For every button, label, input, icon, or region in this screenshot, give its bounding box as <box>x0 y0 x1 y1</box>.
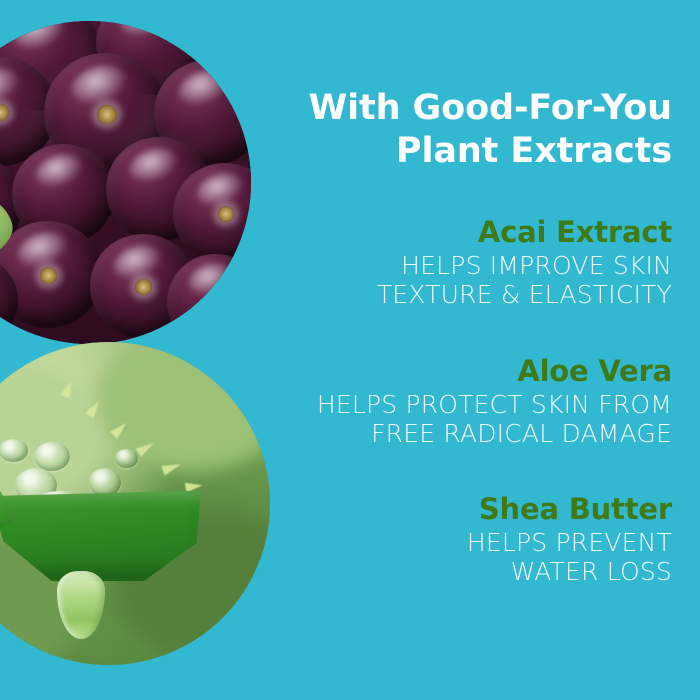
headline-line-2: Plant Extracts <box>396 131 672 171</box>
aloe-spike <box>185 480 203 492</box>
aloe-vera-circle-image <box>0 342 270 665</box>
water-droplet <box>34 442 70 471</box>
ingredient-description-aloe-vera: HELPS PROTECT SKIN FROM FREE RADICAL DAM… <box>282 390 672 448</box>
ingredient-description-shea-butter: HELPS PREVENT WATER LOSS <box>282 528 672 586</box>
ingredient-block-aloe-vera: Aloe Vera HELPS PROTECT SKIN FROM FREE R… <box>282 355 672 448</box>
ingredient-desc-line-2: TEXTURE & ELASTICITY <box>282 280 672 309</box>
ingredient-name-aloe-vera: Aloe Vera <box>282 355 672 387</box>
ingredient-desc-line-1: HELPS IMPROVE SKIN <box>282 251 672 280</box>
ingredient-name-acai-extract: Acai Extract <box>282 216 672 248</box>
water-droplet <box>115 449 138 468</box>
page-title: With Good-For-You Plant Extracts <box>282 87 672 172</box>
ingredient-description-acai-extract: HELPS IMPROVE SKIN TEXTURE & ELASTICITY <box>282 251 672 309</box>
ingredient-desc-line-1: HELPS PROTECT SKIN FROM <box>282 390 672 419</box>
headline-line-1: With Good-For-You <box>309 88 672 128</box>
ingredient-desc-line-2: WATER LOSS <box>282 557 672 586</box>
acai-berries-circle-image <box>0 21 251 344</box>
text-column: With Good-For-You Plant Extracts Acai Ex… <box>282 0 672 700</box>
water-droplet <box>0 439 28 462</box>
ingredient-desc-line-2: FREE RADICAL DAMAGE <box>282 419 672 448</box>
ingredient-desc-line-1: HELPS PREVENT <box>282 528 672 557</box>
ingredient-block-acai-extract: Acai Extract HELPS IMPROVE SKIN TEXTURE … <box>282 216 672 309</box>
infographic-poster: With Good-For-You Plant Extracts Acai Ex… <box>0 0 700 700</box>
ingredient-name-shea-butter: Shea Butter <box>282 493 672 525</box>
ingredient-block-shea-butter: Shea Butter HELPS PREVENT WATER LOSS <box>282 493 672 586</box>
